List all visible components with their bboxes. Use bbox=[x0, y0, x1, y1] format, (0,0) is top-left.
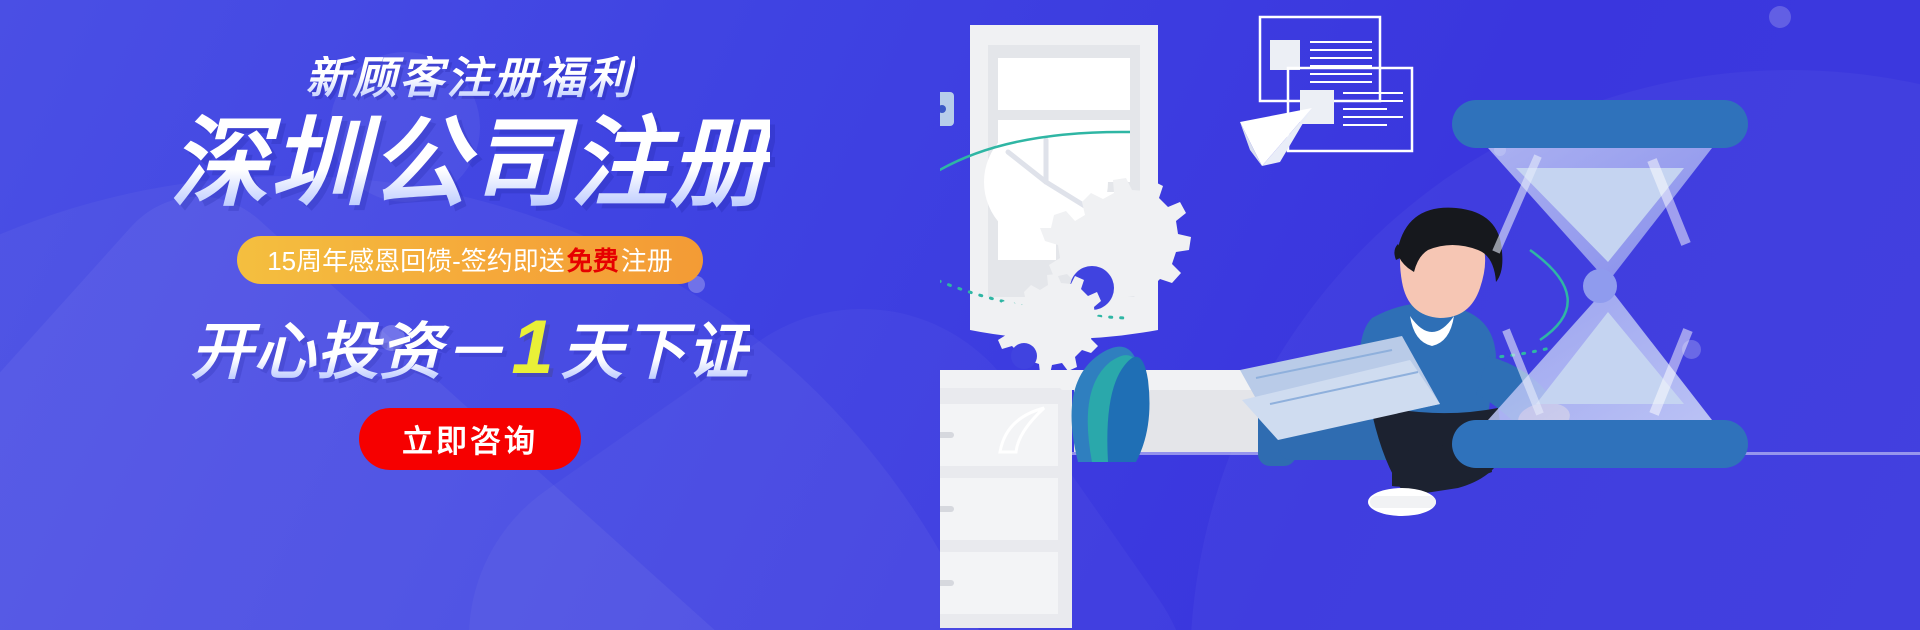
eyebrow-text: 新顾客注册福利 bbox=[306, 56, 635, 102]
consult-now-button[interactable]: 立即咨询 bbox=[359, 408, 581, 470]
card-lines-top bbox=[1310, 42, 1372, 82]
subheadline-before: 开心投资－ bbox=[190, 320, 505, 385]
subheadline: 开心投资－ 1 天下证 bbox=[190, 308, 749, 388]
banner-copy: 新顾客注册福利 深圳公司注册 15周年感恩回馈-签约即送 免费 注册 开心投资－… bbox=[0, 0, 940, 630]
promo-badge: 15周年感恩回馈-签约即送 免费 注册 bbox=[237, 236, 703, 284]
chat-bubble-icon bbox=[940, 92, 954, 142]
promo-banner: 新顾客注册福利 深圳公司注册 15周年感恩回馈-签约即送 免费 注册 开心投资－… bbox=[0, 0, 1920, 630]
paper-plane-icon bbox=[1240, 108, 1312, 166]
filing-cabinet bbox=[940, 370, 1085, 628]
promo-badge-prefix: 15周年感恩回馈-签约即送 bbox=[267, 241, 565, 278]
decorative-curve-right bbox=[1530, 250, 1568, 340]
hourglass-icon bbox=[1452, 100, 1748, 468]
promo-badge-suffix: 注册 bbox=[621, 241, 673, 278]
card-thumb-top bbox=[1270, 40, 1300, 70]
page-title: 深圳公司注册 bbox=[170, 110, 770, 218]
subheadline-after: 天下证 bbox=[561, 320, 750, 385]
card-lines-bottom bbox=[1343, 93, 1403, 125]
promo-badge-highlight: 免费 bbox=[565, 241, 621, 278]
subheadline-number: 1 bbox=[505, 308, 560, 388]
hero-illustration bbox=[940, 0, 1920, 630]
